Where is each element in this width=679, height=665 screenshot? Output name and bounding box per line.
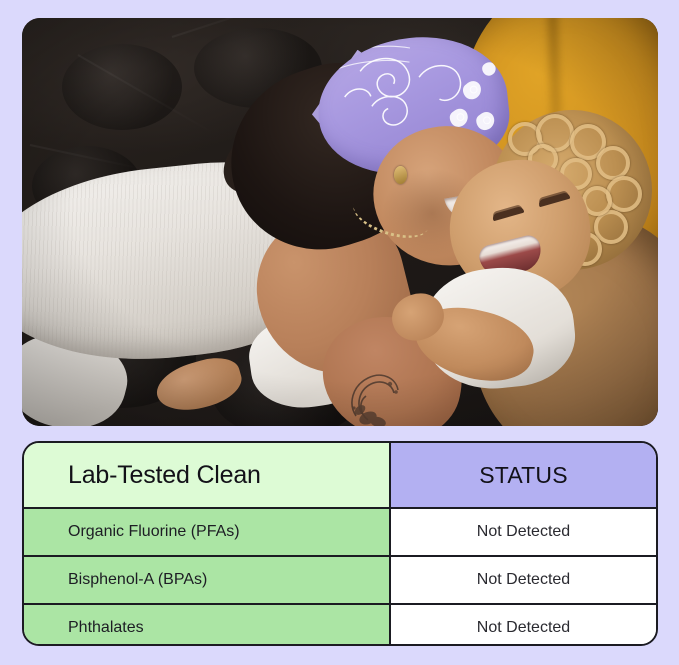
arm-tattoo <box>338 358 412 426</box>
table-header-row: Lab-Tested Clean STATUS <box>24 443 656 507</box>
substance-label: Phthalates <box>68 619 144 637</box>
header-cell-status: STATUS <box>391 443 656 507</box>
product-claim-panel: Lab-Tested Clean STATUS Organic Fluorine… <box>0 0 679 665</box>
table-title: Lab-Tested Clean <box>68 461 261 490</box>
table-row: Organic Fluorine (PFAs) Not Detected <box>24 507 656 555</box>
header-cell-claim: Lab-Tested Clean <box>24 443 391 507</box>
status-cell: Not Detected <box>391 557 656 603</box>
hair-curl <box>596 146 630 180</box>
status-value: Not Detected <box>477 571 570 589</box>
substance-cell: Organic Fluorine (PFAs) <box>24 509 391 555</box>
hair-curl <box>606 176 642 212</box>
status-cell: Not Detected <box>391 605 656 646</box>
status-value: Not Detected <box>477 619 570 637</box>
hero-photo <box>22 18 658 426</box>
substance-cell: Bisphenol-A (BPAs) <box>24 557 391 603</box>
status-cell: Not Detected <box>391 509 656 555</box>
table-row: Phthalates Not Detected <box>24 603 656 646</box>
hoop-earring <box>394 166 407 184</box>
substance-cell: Phthalates <box>24 605 391 646</box>
lab-results-table: Lab-Tested Clean STATUS Organic Fluorine… <box>22 441 658 646</box>
status-value: Not Detected <box>477 523 570 541</box>
hero-scene <box>22 18 658 426</box>
status-column-header: STATUS <box>479 462 568 489</box>
substance-label: Organic Fluorine (PFAs) <box>68 523 240 541</box>
table-row: Bisphenol-A (BPAs) Not Detected <box>24 555 656 603</box>
substance-label: Bisphenol-A (BPAs) <box>68 571 207 589</box>
